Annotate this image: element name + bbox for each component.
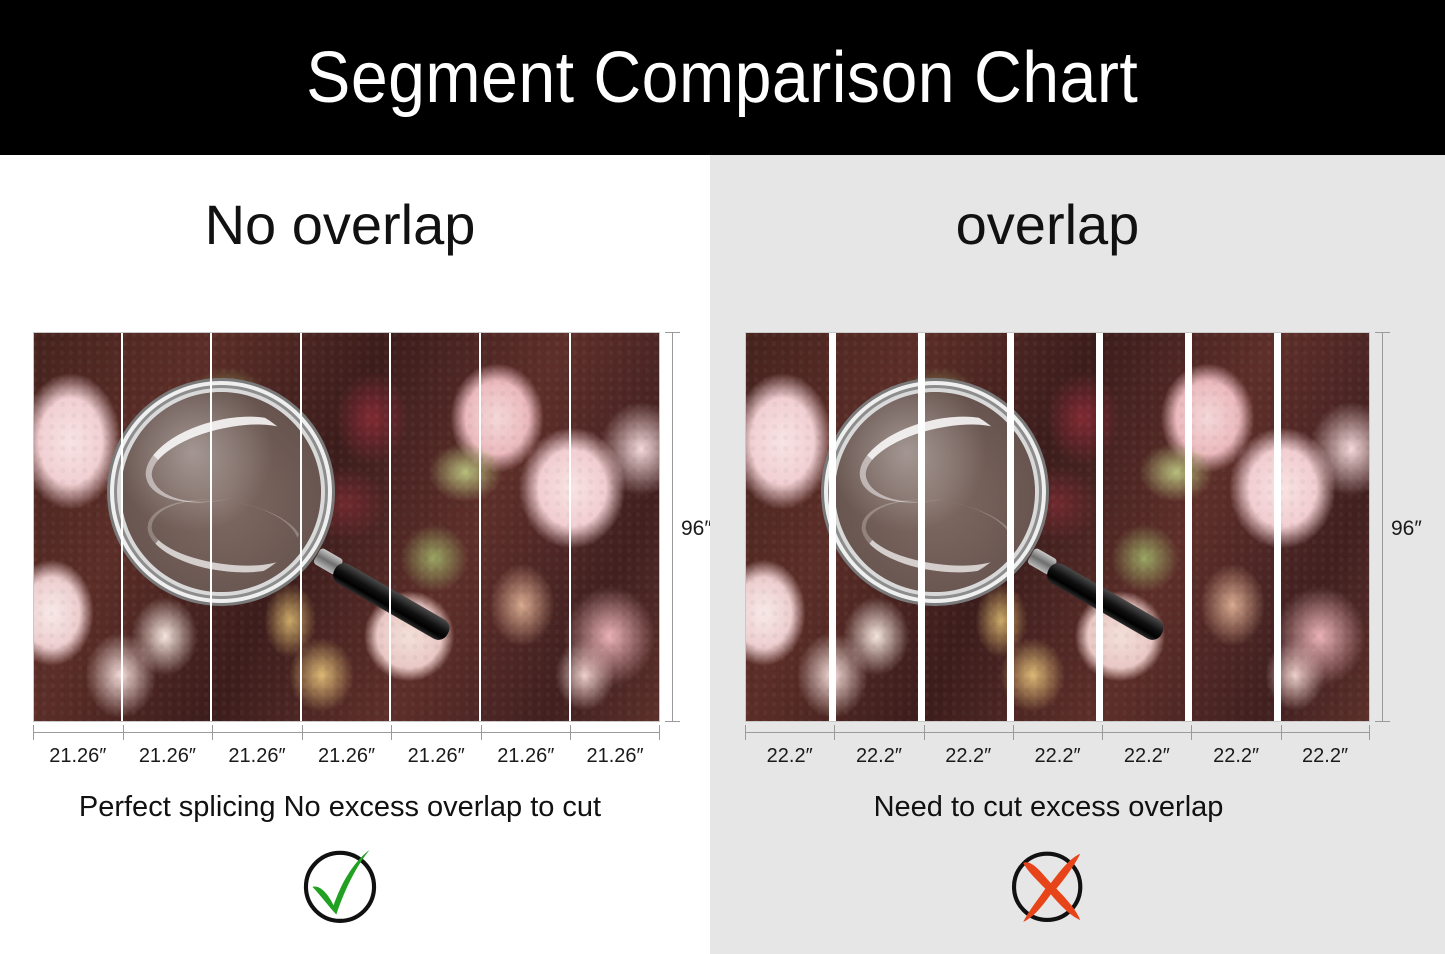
panel-overlap: overlap [710, 155, 1445, 954]
segment-width-label: 22.2″ [1013, 745, 1102, 768]
segment-comparison-chart: Segment Comparison Chart No overlap [0, 0, 1445, 954]
panel-heading-no-overlap: No overlap [0, 197, 710, 253]
segment-divider [121, 332, 123, 722]
verdict-no-overlap [0, 839, 710, 931]
segment-divider [1185, 332, 1192, 722]
segment-width-label: 22.2″ [834, 745, 923, 768]
segment-divider [389, 332, 391, 722]
verdict-overlap [710, 839, 1445, 931]
mural-image-no-overlap [33, 332, 660, 722]
segment-width-label: 22.2″ [1281, 745, 1370, 768]
panel-no-overlap: No overlap [0, 155, 710, 954]
segment-width-label: 22.2″ [1191, 745, 1280, 768]
red-cross-icon [1003, 839, 1095, 931]
segment-divider [479, 332, 481, 722]
segment-width-label: 22.2″ [745, 745, 834, 768]
green-check-icon [294, 839, 386, 931]
caption-overlap: Need to cut excess overlap [710, 793, 1445, 822]
comparison-panels: No overlap [0, 155, 1445, 954]
segment-divider [300, 332, 302, 722]
width-dimension-line [745, 732, 1370, 733]
segment-width-label: 21.26″ [391, 745, 481, 768]
segment-width-label: 21.26″ [123, 745, 213, 768]
panel-heading-overlap: overlap [710, 197, 1445, 253]
segment-width-labels: 22.2″ 22.2″ 22.2″ 22.2″ 22.2″ 22.2″ 22.2… [745, 745, 1370, 768]
mural-overlap [745, 332, 1370, 722]
header-bar: Segment Comparison Chart [0, 0, 1445, 155]
page-title: Segment Comparison Chart [306, 42, 1138, 114]
height-dimension-line [1382, 332, 1383, 722]
floral-photo [33, 332, 660, 722]
height-dimension-label: 96″ [681, 517, 712, 541]
segment-width-label: 21.26″ [33, 745, 123, 768]
segment-width-label: 22.2″ [1102, 745, 1191, 768]
segment-divider [1274, 332, 1281, 722]
segment-divider [569, 332, 571, 722]
segment-width-labels: 21.26″ 21.26″ 21.26″ 21.26″ 21.26″ 21.26… [33, 745, 660, 768]
segment-width-label: 21.26″ [571, 745, 660, 768]
segment-divider [1007, 332, 1014, 722]
segment-width-label: 21.26″ [481, 745, 571, 768]
height-dimension-line [672, 332, 673, 722]
mural-no-overlap [33, 332, 660, 722]
segment-width-label: 21.26″ [212, 745, 302, 768]
width-dimension-line [33, 732, 660, 733]
segment-divider [1096, 332, 1103, 722]
segment-width-label: 22.2″ [924, 745, 1013, 768]
height-dimension-label: 96″ [1391, 517, 1422, 541]
segment-divider [829, 332, 836, 722]
segment-divider [918, 332, 925, 722]
segment-divider [210, 332, 212, 722]
segment-width-label: 21.26″ [302, 745, 392, 768]
mural-image-overlap [745, 332, 1370, 722]
caption-no-overlap: Perfect splicing No excess overlap to cu… [0, 793, 710, 822]
